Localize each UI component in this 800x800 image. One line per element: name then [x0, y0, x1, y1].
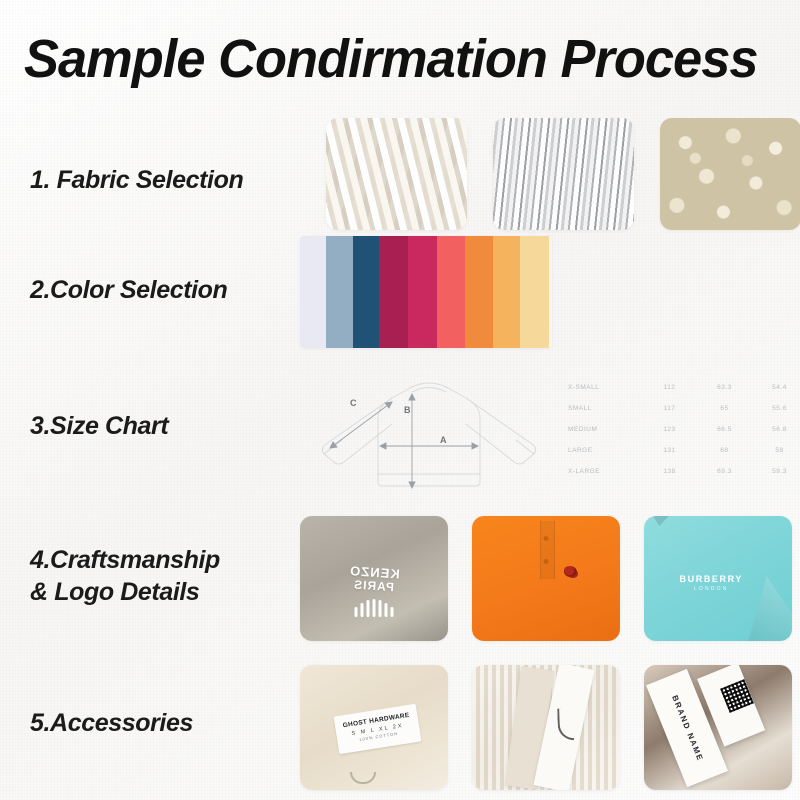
swatch-magenta-pink[interactable]	[408, 236, 437, 348]
kenzo-rays-icon	[355, 599, 394, 617]
burberry-logo-line2: LONDON	[680, 586, 743, 592]
swatch-crimson[interactable]	[379, 236, 408, 348]
table-row: SMALL 117 65 55.6 63	[562, 398, 800, 419]
size-value: 66.5	[697, 426, 752, 433]
craftsmanship-tile-group: KENZO PARIS BURBERRY LONDON	[300, 516, 792, 641]
size-value: 117	[642, 405, 697, 412]
table-row: X-SMALL 112 63.3 54.4 61	[562, 377, 800, 398]
step-row-color-selection: 2.Color Selection	[0, 236, 800, 348]
burberry-logo-line1: BURBERRY	[680, 574, 743, 584]
poster-page: Sample Condirmation Process 1. Fabric Se…	[0, 0, 800, 800]
swatch-orange[interactable]	[465, 236, 493, 348]
size-value: 59.3	[752, 468, 800, 475]
size-value: 138	[642, 468, 697, 475]
size-name: SMALL	[562, 405, 642, 412]
beige-boucle-knit-swatch[interactable]	[660, 118, 800, 230]
step-label-3: 3.Size Chart	[30, 410, 168, 442]
polo-button	[544, 536, 549, 541]
care-label-tag: GHOST HARDWARE S M L XL 2X 100% COTTON	[333, 704, 421, 754]
kenzo-print-swatch[interactable]: KENZO PARIS	[300, 516, 448, 641]
woven-care-label[interactable]: GHOST HARDWARE S M L XL 2X 100% COTTON	[300, 665, 448, 790]
step-label-4-line1: 4.Craftsmanship	[30, 544, 220, 576]
step-label-4: 4.Craftsmanship & Logo Details	[30, 544, 220, 608]
swatch-light-orange[interactable]	[493, 236, 521, 348]
size-value: 58	[752, 447, 800, 454]
embroidered-logo-icon	[564, 566, 577, 577]
size-name: MEDIUM	[562, 426, 642, 433]
size-chart-panel: A B C X-SMALL 112 63.3 54.4 61 SMALL	[300, 362, 792, 496]
size-value: 54.4	[752, 384, 800, 391]
size-value: 56.8	[752, 426, 800, 433]
grey-marbled-fabric-swatch[interactable]	[493, 118, 634, 230]
step-label-2: 2.Color Selection	[30, 274, 227, 306]
size-value: 65	[697, 405, 752, 412]
size-name: X-LARGE	[562, 468, 642, 475]
polo-placket	[540, 521, 555, 579]
size-value: 68	[697, 447, 752, 454]
size-value: 63.3	[697, 384, 752, 391]
kenzo-logo-line2: PARIS	[348, 577, 399, 593]
size-value: 69.3	[697, 468, 752, 475]
swatch-coral-red[interactable]	[437, 236, 465, 348]
polo-button	[544, 559, 549, 564]
step-row-fabric-selection: 1. Fabric Selection	[0, 118, 800, 230]
svg-text:B: B	[404, 405, 411, 415]
signature-mark	[557, 708, 574, 741]
orange-polo-embroidery[interactable]	[472, 516, 620, 641]
swatch-cream-yellow[interactable]	[520, 236, 549, 348]
turquoise-burberry-print[interactable]: BURBERRY LONDON	[644, 516, 792, 641]
drawstring	[350, 772, 376, 784]
size-value: 131	[642, 447, 697, 454]
size-value: 55.6	[752, 405, 800, 412]
cream-cable-knit-swatch[interactable]	[326, 118, 467, 230]
step-label-4-line2: & Logo Details	[30, 576, 220, 608]
swatch-blue-grey[interactable]	[326, 236, 352, 348]
kenzo-logo: KENZO PARIS	[348, 564, 400, 594]
step-label-5: 5.Accessories	[30, 707, 193, 739]
fabric-tile-group	[326, 118, 800, 230]
size-name: LARGE	[562, 447, 642, 454]
svg-text:A: A	[440, 435, 447, 445]
sweater-technical-drawing: A B C	[300, 362, 558, 496]
step-row-craftsmanship: 4.Craftsmanship & Logo Details KENZO PAR…	[0, 516, 800, 641]
brand-name-text: BRAND NAME	[670, 693, 705, 762]
svg-text:C: C	[350, 398, 357, 408]
color-palette[interactable]	[300, 236, 552, 348]
burberry-logo: BURBERRY LONDON	[680, 574, 743, 592]
hang-tags-on-knit[interactable]	[472, 665, 620, 790]
size-name: X-SMALL	[562, 384, 642, 391]
table-row: X-LARGE 138 69.3 59.3 69	[562, 461, 800, 482]
step-label-1: 1. Fabric Selection	[30, 164, 243, 196]
size-value: 123	[642, 426, 697, 433]
size-value: 112	[642, 384, 697, 391]
page-title: Sample Condirmation Process	[24, 28, 761, 90]
sleeve-fold	[736, 576, 792, 641]
table-row: MEDIUM 123 66.5 56.8 65	[562, 419, 800, 440]
collar-corner	[653, 516, 669, 526]
brand-name-tag-with-qr[interactable]: BRAND NAME	[644, 665, 792, 790]
swatch-deep-teal-blue[interactable]	[353, 236, 379, 348]
accessories-tile-group: GHOST HARDWARE S M L XL 2X 100% COTTON B…	[300, 665, 792, 790]
table-row: LARGE 131 68 58 67	[562, 440, 800, 461]
step-row-accessories: 5.Accessories GHOST HARDWARE S M L XL 2X…	[0, 665, 800, 790]
swatch-lavender-white[interactable]	[300, 236, 326, 348]
step-row-size-chart: 3.Size Chart	[0, 362, 800, 496]
size-table[interactable]: X-SMALL 112 63.3 54.4 61 SMALL 117 65 55…	[558, 362, 800, 496]
